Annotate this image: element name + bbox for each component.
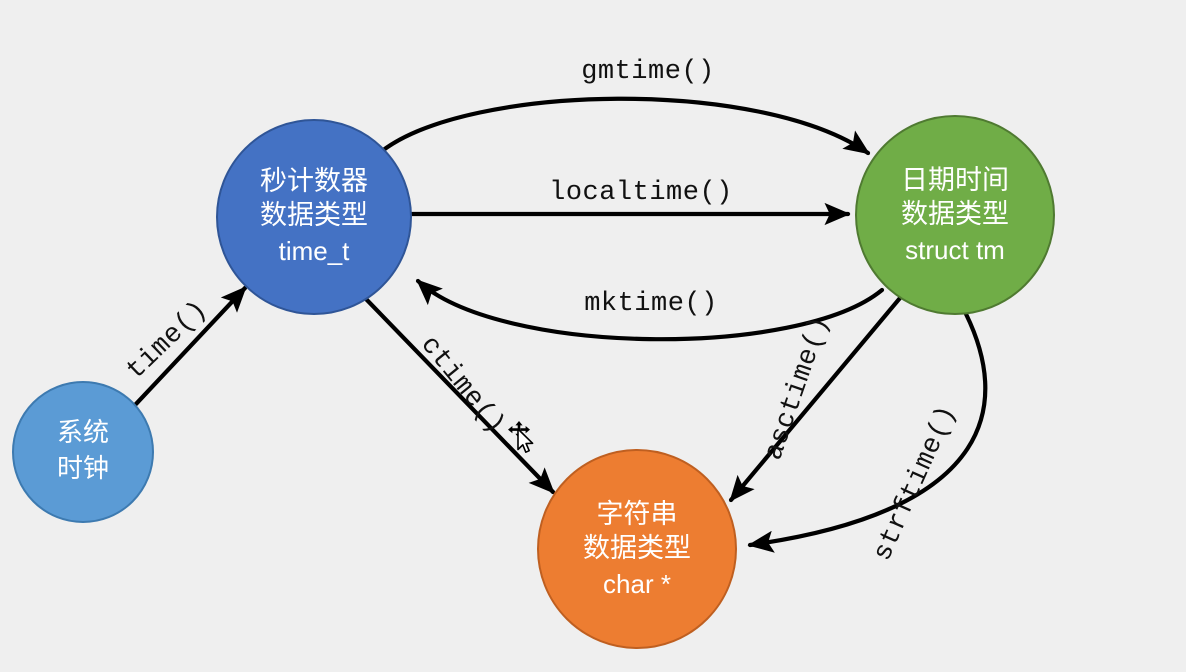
edge-labels-layer: time() gmtime() localtime() mktime() cti…: [121, 57, 963, 566]
node-struct-tm-line-3: struct tm: [905, 235, 1005, 265]
edge-label-mktime: mktime(): [584, 289, 718, 319]
node-char-star[interactable]: 字符串 数据类型 char *: [538, 450, 736, 648]
node-struct-tm[interactable]: 日期时间 数据类型 struct tm: [856, 116, 1054, 314]
node-char-star-line-2: 数据类型: [583, 533, 691, 563]
node-system-clock-line-2: 时钟: [57, 453, 109, 483]
edge-gmtime[interactable]: [382, 99, 868, 153]
nodes-layer: 系统 时钟 秒计数器 数据类型 time_t 日期时间 数据类型 struct …: [13, 116, 1054, 648]
node-struct-tm-line-1: 日期时间: [901, 165, 1009, 195]
edge-label-localtime: localtime(): [549, 178, 733, 208]
node-system-clock[interactable]: 系统 时钟: [13, 382, 153, 522]
node-time-t[interactable]: 秒计数器 数据类型 time_t: [217, 120, 411, 314]
node-char-star-line-1: 字符串: [597, 499, 678, 529]
edge-label-strftime: strftime(): [868, 401, 963, 566]
node-system-clock-line-1: 系统: [57, 417, 109, 447]
time-api-diagram: 系统 时钟 秒计数器 数据类型 time_t 日期时间 数据类型 struct …: [0, 0, 1186, 672]
edge-label-gmtime: gmtime(): [581, 57, 715, 87]
node-time-t-line-3: time_t: [279, 236, 351, 266]
node-struct-tm-line-2: 数据类型: [901, 199, 1009, 229]
edge-label-ctime: ctime(): [414, 331, 511, 441]
node-char-star-line-3: char *: [603, 569, 671, 599]
node-time-t-line-2: 数据类型: [260, 200, 368, 230]
diagram-canvas: 系统 时钟 秒计数器 数据类型 time_t 日期时间 数据类型 struct …: [0, 0, 1186, 672]
node-time-t-line-1: 秒计数器: [260, 166, 368, 196]
